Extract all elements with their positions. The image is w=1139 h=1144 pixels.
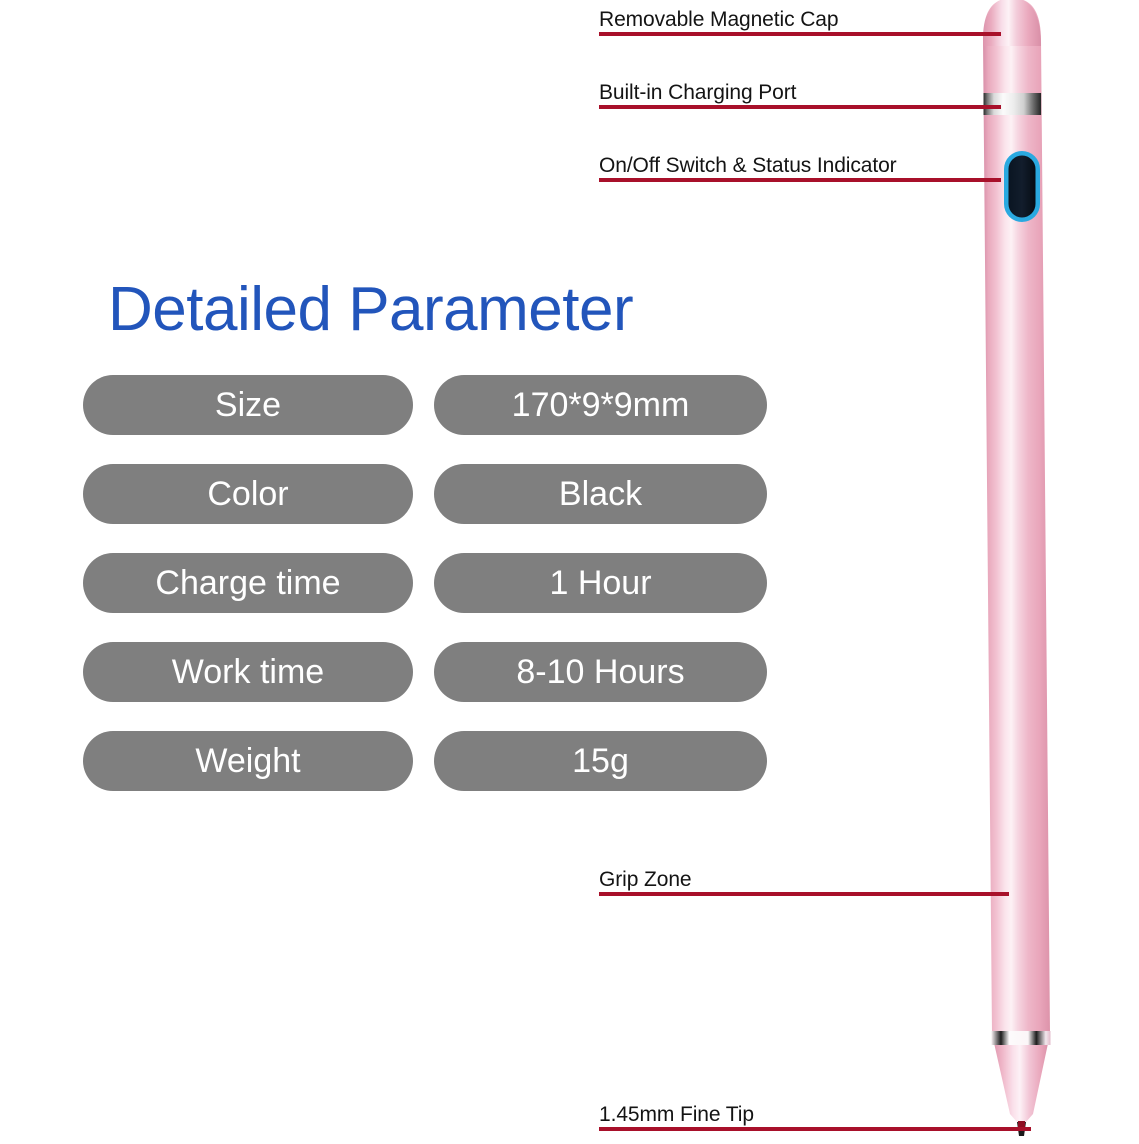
spec-key-pill-weight: Weight [83, 731, 413, 791]
callout-label-magnetic-cap: Removable Magnetic Cap [599, 9, 838, 30]
power-button-indicator[interactable] [1004, 151, 1040, 222]
spec-value-pill-work-time: 8-10 Hours [434, 642, 767, 702]
callout-power-switch: On/Off Switch & Status Indicator [599, 146, 1001, 182]
spec-value-pill-charge-time: 1 Hour [434, 553, 767, 613]
spec-value-label-work-time: 8-10 Hours [516, 655, 684, 689]
callout-label-charging-port: Built-in Charging Port [599, 82, 796, 103]
callout-label-grip-zone: Grip Zone [599, 869, 691, 890]
callout-label-power-switch: On/Off Switch & Status Indicator [599, 155, 897, 176]
leader-line-grip-zone [599, 892, 1009, 896]
callout-fine-tip: 1.45mm Fine Tip [599, 1095, 1031, 1131]
spec-key-label-charge-time: Charge time [155, 566, 340, 600]
callout-grip-zone: Grip Zone [599, 860, 1009, 896]
spec-value-pill-size: 170*9*9mm [434, 375, 767, 435]
spec-value-pill-weight: 15g [434, 731, 767, 791]
callout-label-fine-tip: 1.45mm Fine Tip [599, 1104, 754, 1125]
leader-line-charging-port [599, 105, 1001, 109]
leader-line-magnetic-cap [599, 32, 1001, 36]
leader-line-power-switch [599, 178, 1001, 182]
spec-key-label-weight: Weight [195, 744, 300, 778]
infographic-canvas: Removable Magnetic Cap Built-in Charging… [0, 0, 1139, 1139]
spec-value-label-weight: 15g [572, 744, 629, 778]
spec-value-label-size: 170*9*9mm [512, 388, 690, 422]
spec-key-label-work-time: Work time [172, 655, 324, 689]
spec-key-pill-color: Color [83, 464, 413, 524]
page-title: Detailed Parameter [108, 279, 633, 341]
spec-key-label-color: Color [207, 477, 288, 511]
spec-key-pill-charge-time: Charge time [83, 553, 413, 613]
spec-value-pill-color: Black [434, 464, 767, 524]
spec-key-pill-work-time: Work time [83, 642, 413, 702]
spec-key-pill-size: Size [83, 375, 413, 435]
callout-charging-port: Built-in Charging Port [599, 73, 1001, 109]
leader-line-fine-tip [599, 1127, 1031, 1131]
callout-magnetic-cap: Removable Magnetic Cap [599, 0, 1001, 36]
spec-value-label-color: Black [559, 477, 642, 511]
spec-value-label-charge-time: 1 Hour [549, 566, 651, 600]
spec-key-label-size: Size [215, 388, 281, 422]
